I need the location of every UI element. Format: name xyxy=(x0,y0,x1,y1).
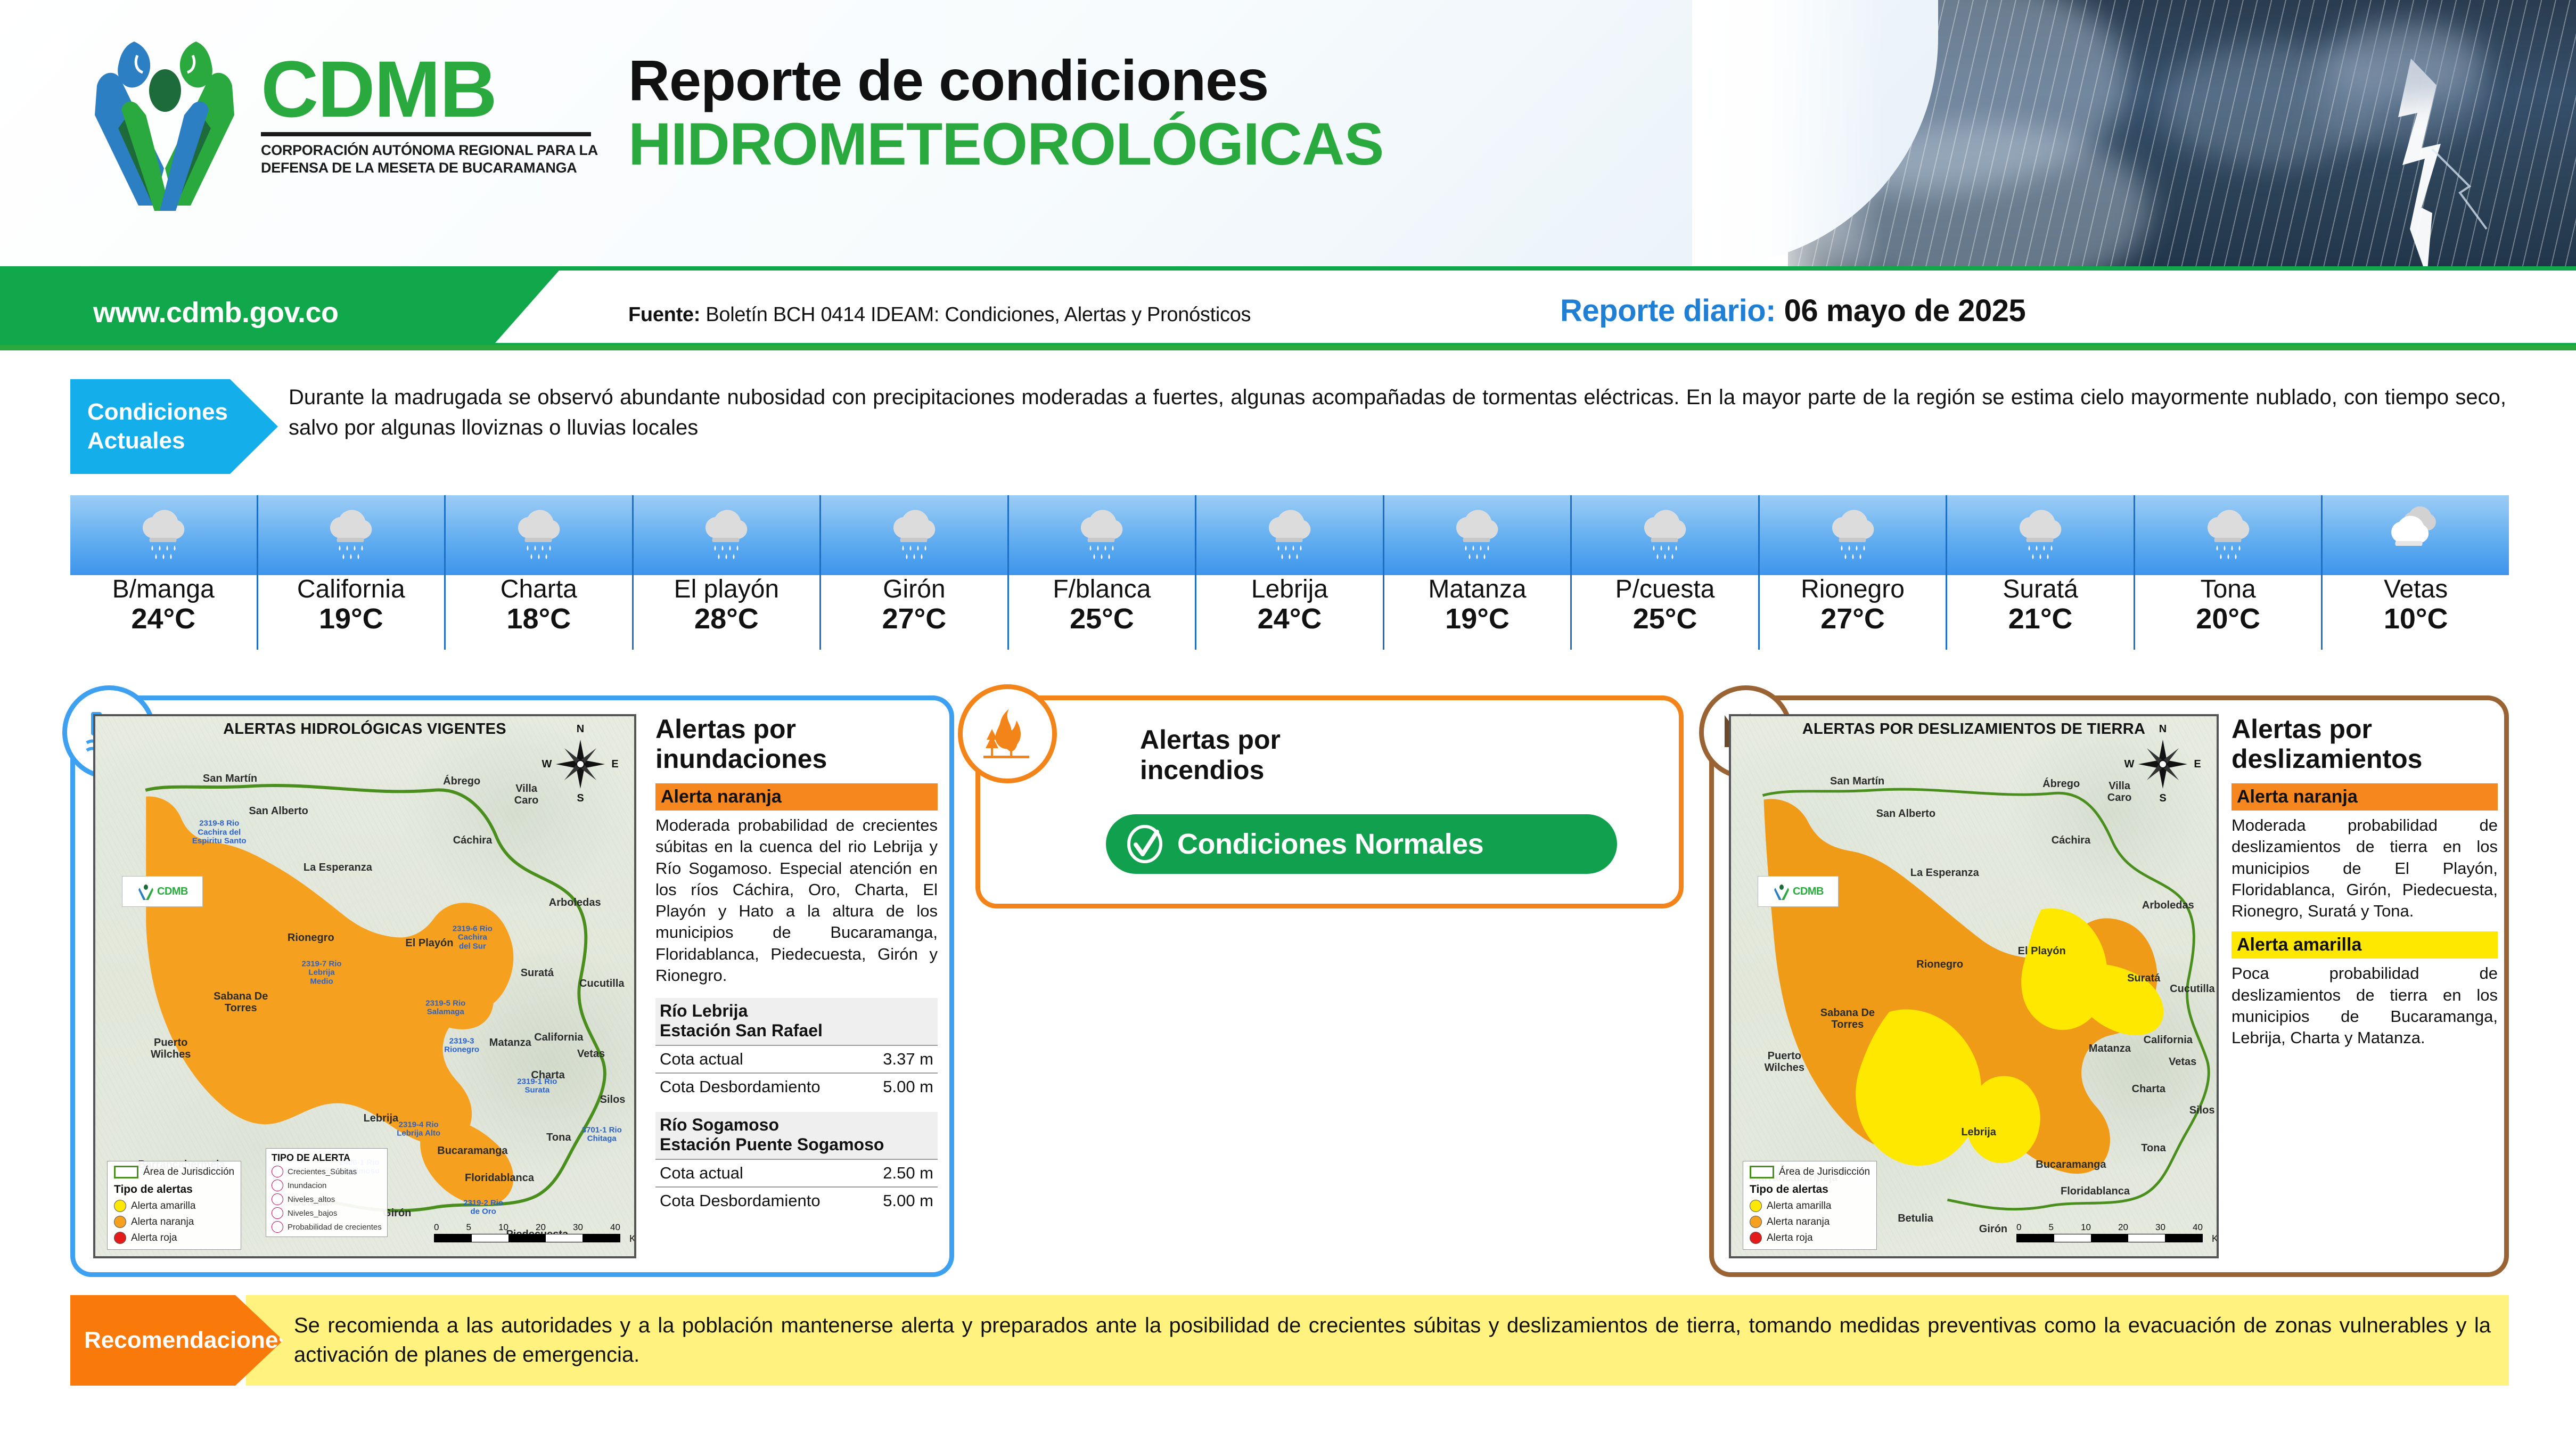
map-place-label: Ábrego xyxy=(2042,778,2080,790)
legend-jurisdiction-label: Área de Jurisdicción xyxy=(1779,1166,1870,1178)
temperature-cell-bmanga: B/manga24°C xyxy=(70,495,258,650)
river-gauge-sogamoso: Río Sogamoso Estación Puente Sogamoso Co… xyxy=(655,1112,938,1214)
gauge-station-name: Estación San Rafael xyxy=(660,1021,933,1041)
svg-text:W: W xyxy=(2124,758,2135,770)
map-place-label: California xyxy=(534,1032,583,1043)
current-conditions-tag: Condiciones Actuales xyxy=(70,379,278,474)
scale-tick: 30 xyxy=(2155,1222,2165,1233)
map-place-label: San Alberto xyxy=(1876,808,1936,820)
scale-tick: 10 xyxy=(498,1222,508,1233)
scale-tick: 5 xyxy=(466,1222,471,1233)
page-header: CDMB CORPORACIÓN AUTÓNOMA REGIONAL PARA … xyxy=(0,0,2576,266)
map-cdmb-logo: CDMB xyxy=(122,876,203,907)
gauge-station-name: Estación Puente Sogamoso xyxy=(660,1135,933,1155)
scale-tick: 30 xyxy=(573,1222,583,1233)
slide-map-title: ALERTAS POR DESLIZAMIENTOS DE TIERRA xyxy=(1731,721,2217,738)
slide-alert-level-badge-yellow: Alerta amarilla xyxy=(2232,931,2498,959)
map-place-label: Vetas xyxy=(577,1048,605,1060)
gauge-row-value: 3.37 m xyxy=(883,1050,933,1069)
current-conditions-text: Durante la madrugada se observó abundant… xyxy=(289,382,2506,443)
map-place-label: Charta xyxy=(2132,1083,2165,1095)
gauge-row-label: Cota actual xyxy=(660,1050,743,1069)
temperature-labels: Matanza19°C xyxy=(1384,575,1571,650)
temperature-city: P/cuesta xyxy=(1615,576,1715,603)
map-basin-label: 2319-2 Rio de Oro xyxy=(463,1199,503,1216)
forest-fire-icon xyxy=(958,684,1057,783)
temperature-city: Vetas xyxy=(2384,576,2448,603)
temperature-value: 24°C xyxy=(1258,604,1322,634)
logo-acronym: CDMB xyxy=(261,49,602,129)
temperature-value: 10°C xyxy=(2384,604,2448,634)
rain-cloud-icon xyxy=(70,495,257,575)
map-logo-text: CDMB xyxy=(157,886,188,898)
table-row: Cota Desbordamiento 5.00 m xyxy=(655,1186,938,1214)
temperature-cell-tona: Tona20°C xyxy=(2135,495,2323,650)
temperature-labels: Lebrija24°C xyxy=(1196,575,1383,650)
map-place-label: Bucaramanga xyxy=(437,1145,507,1157)
map-place-label: Cáchira xyxy=(2052,834,2090,846)
map-place-label: Villa Caro xyxy=(514,783,539,806)
rain-cloud-icon xyxy=(1572,495,1758,575)
report-date-label: Reporte diario: xyxy=(1560,293,1776,328)
table-row: Cota actual 3.37 m xyxy=(655,1045,938,1073)
cdmb-logo: CDMB CORPORACIÓN AUTÓNOMA REGIONAL PARA … xyxy=(75,35,607,227)
rain-cloud-icon xyxy=(1947,495,2134,575)
logo-subtitle-line2: DEFENSA DE LA MESETA DE BUCARAMANGA xyxy=(261,159,602,177)
map-place-label: La Esperanza xyxy=(303,862,372,873)
map-place-label: El Playón xyxy=(405,937,453,949)
scale-tick: 40 xyxy=(610,1222,620,1233)
flood-title-line1: Alertas por xyxy=(655,714,938,744)
scale-tick: 10 xyxy=(2081,1222,2091,1233)
temperature-labels: P/cuesta25°C xyxy=(1572,575,1758,650)
temperature-cell-matanza: Matanza19°C xyxy=(1384,495,1572,650)
temperature-labels: F/blanca25°C xyxy=(1009,575,1195,650)
map-place-label: Silos xyxy=(2189,1104,2215,1116)
temperature-strip: B/manga24°C California19°C Charta18°C xyxy=(70,495,2509,650)
temperature-cell-surat: Suratá21°C xyxy=(1947,495,2135,650)
conditions-tag-line2: Actuales xyxy=(87,427,278,455)
svg-text:E: E xyxy=(611,758,618,770)
map-place-label: Puerto Wilches xyxy=(1765,1050,1804,1074)
map-place-label: Ábrego xyxy=(443,775,480,787)
legend-jurisdiction-label: Área de Jurisdicción xyxy=(143,1166,234,1178)
temperature-labels: Tona20°C xyxy=(2135,575,2321,650)
slide-title-line1: Alertas por xyxy=(2232,714,2498,744)
green-bar-underline xyxy=(0,345,2576,350)
temperature-value: 28°C xyxy=(694,604,759,634)
temperature-labels: California19°C xyxy=(258,575,445,650)
source-credit: Fuente: Boletín BCH 0414 IDEAM: Condicio… xyxy=(628,304,1251,326)
slide-map-legend: Área de Jurisdicción Tipo de alertas Ale… xyxy=(1743,1161,1877,1250)
map-place-label: Sabana De Torres xyxy=(1820,1007,1875,1030)
report-date-line: Reporte diario: 06 mayo de 2025 xyxy=(1560,293,2025,329)
map-place-label: Suratá xyxy=(521,967,554,979)
slide-title-line2: deslizamientos xyxy=(2232,744,2498,774)
temperature-cell-lebrija: Lebrija24°C xyxy=(1196,495,1384,650)
map-place-label: Sabana De Torres xyxy=(214,990,268,1014)
temperature-cell-california: California19°C xyxy=(258,495,446,650)
temperature-labels: Rionegro27°C xyxy=(1760,575,1946,650)
rain-cloud-icon xyxy=(258,495,445,575)
map-place-label: Floridablanca xyxy=(465,1172,534,1184)
map-place-label: Floridablanca xyxy=(2061,1185,2130,1197)
temperature-labels: Charta18°C xyxy=(446,575,632,650)
map-place-label: Girón xyxy=(1979,1223,2007,1235)
map-place-label: Puerto Wilches xyxy=(151,1037,191,1060)
rain-cloud-icon xyxy=(2135,495,2321,575)
legend2-item: Niveles_bajos xyxy=(288,1209,337,1218)
temperature-city: California xyxy=(297,576,405,603)
rain-cloud-icon xyxy=(821,495,1007,575)
map-place-label: El Playón xyxy=(2018,945,2066,957)
hydrological-alerts-map[interactable]: ALERTAS HIDROLÓGICAS VIGENTES San Martín… xyxy=(93,714,636,1258)
river-gauge-lebrija: Río Lebrija Estación San Rafael Cota act… xyxy=(655,998,938,1100)
map-place-label: Suratá xyxy=(2127,972,2160,984)
legend2-item: Crecientes_Súbitas xyxy=(288,1167,357,1176)
slide-alert-level-badge-orange: Alerta naranja xyxy=(2232,783,2498,811)
temperature-value: 25°C xyxy=(1633,604,1697,634)
rain-cloud-icon xyxy=(1009,495,1195,575)
map-place-label: San Martín xyxy=(203,773,257,784)
map-basin-label: 2319-3 Rionegro xyxy=(444,1037,479,1054)
temperature-city: Suratá xyxy=(2003,576,2078,603)
temperature-value: 19°C xyxy=(319,604,383,634)
scale-tick: 0 xyxy=(2016,1222,2021,1233)
temperature-cell-rionegro: Rionegro27°C xyxy=(1760,495,1948,650)
legend-item-label: Alerta naranja xyxy=(1767,1216,1830,1228)
temperature-cell-fblanca: F/blanca25°C xyxy=(1009,495,1197,650)
slide-map-scalebar: 0 5 10 20 30 40 Km xyxy=(2016,1222,2203,1242)
scale-tick: 0 xyxy=(434,1222,439,1233)
map-place-label: Cucutilla xyxy=(579,978,624,989)
temperature-city: Lebrija xyxy=(1251,576,1328,603)
map-basin-label: 2319-1 Rio Surata xyxy=(517,1077,557,1095)
temperature-value: 21°C xyxy=(2008,604,2073,634)
temperature-city: Tona xyxy=(2201,576,2256,603)
scale-tick: 5 xyxy=(2049,1222,2054,1233)
landslide-panel-content: Alertas por deslizamientos Alerta naranj… xyxy=(2232,714,2498,1049)
temperature-city: Charta xyxy=(501,576,577,603)
map-basin-label: 2319-4 Rio Lebrija Alto xyxy=(397,1120,440,1138)
source-text: Boletín BCH 0414 IDEAM: Condiciones, Ale… xyxy=(705,304,1251,326)
page-title: Reporte de condiciones HIDROMETEOROLÓGIC… xyxy=(628,51,1383,175)
temperature-labels: Suratá21°C xyxy=(1947,575,2134,650)
legend-title: Tipo de alertas xyxy=(114,1183,234,1196)
recommendations-body: Se recomienda a las autoridades y a la p… xyxy=(246,1295,2509,1386)
conditions-tag-line1: Condiciones xyxy=(87,398,278,427)
legend-title: Tipo de alertas xyxy=(1750,1183,1870,1196)
map-place-label: Rionegro xyxy=(1916,959,1963,970)
report-date-value: 06 mayo de 2025 xyxy=(1784,293,2026,328)
slide-alert-description-orange: Moderada probabilidad de deslizamientos … xyxy=(2232,815,2498,922)
scale-unit: Km xyxy=(2212,1233,2219,1245)
map-place-label: Bucaramanga xyxy=(2036,1159,2106,1170)
legend2-title: TIPO DE ALERTA xyxy=(272,1152,382,1164)
svg-text:W: W xyxy=(542,758,552,770)
source-label: Fuente: xyxy=(628,304,700,326)
landslide-alerts-map[interactable]: ALERTAS POR DESLIZAMIENTOS DE TIERRA San… xyxy=(1729,714,2219,1258)
legend-item-label: Alerta naranja xyxy=(131,1216,194,1228)
gauge-row-label: Cota Desbordamiento xyxy=(660,1077,821,1096)
map-place-label: California xyxy=(2144,1034,2193,1046)
flood-map-legend: Área de Jurisdicción Tipo de alertas Ale… xyxy=(107,1161,241,1250)
temperature-labels: El playón28°C xyxy=(634,575,820,650)
table-row: Cota actual 2.50 m xyxy=(655,1159,938,1186)
temperature-value: 24°C xyxy=(131,604,195,634)
map-place-label: Tona xyxy=(546,1132,571,1143)
flood-alert-level-badge: Alerta naranja xyxy=(655,783,938,811)
check-circle-icon xyxy=(1124,823,1166,865)
map-place-label: Arboledas xyxy=(2142,899,2194,911)
website-url[interactable]: www.cdmb.gov.co xyxy=(93,296,339,329)
temperature-cell-charta: Charta18°C xyxy=(446,495,634,650)
legend-item-label: Alerta amarilla xyxy=(1767,1200,1831,1212)
flood-title-line2: inundaciones xyxy=(655,744,938,774)
fire-panel-title: Alertas por incendios xyxy=(1140,725,1281,785)
temperature-city: F/blanca xyxy=(1053,576,1151,603)
map-logo-text: CDMB xyxy=(1793,886,1824,898)
current-conditions-row: Condiciones Actuales Durante la madrugad… xyxy=(70,379,2509,474)
map-basin-label: 2319-6 Rio Cachira del Sur xyxy=(453,924,493,951)
gauge-row-value: 2.50 m xyxy=(883,1164,933,1183)
header-gradient-fade xyxy=(1692,0,1884,266)
temperature-cell-vetas: Vetas10°C xyxy=(2323,495,2509,650)
legend2-item: Inundacion xyxy=(288,1181,326,1190)
map-place-label: Betulia xyxy=(1898,1213,1933,1224)
map-place-label: Tona xyxy=(2141,1142,2165,1154)
gauge-row-label: Cota actual xyxy=(660,1164,743,1183)
temperature-cell-pcuesta: P/cuesta25°C xyxy=(1572,495,1760,650)
svg-text:S: S xyxy=(2159,792,2166,804)
cloudy-icon xyxy=(2323,495,2509,575)
scale-tick: 20 xyxy=(536,1222,546,1233)
flood-map-scalebar: 0 5 10 20 30 40 Km xyxy=(434,1222,620,1242)
flood-map-title: ALERTAS HIDROLÓGICAS VIGENTES xyxy=(95,721,634,738)
title-line-1: Reporte de condiciones xyxy=(628,51,1383,110)
legend2-item: Niveles_altos xyxy=(288,1195,335,1204)
temperature-labels: B/manga24°C xyxy=(70,575,257,650)
scale-tick: 40 xyxy=(2193,1222,2203,1233)
slide-alert-description-yellow: Poca probabilidad de deslizamientos de t… xyxy=(2232,963,2498,1049)
map-place-label: San Alberto xyxy=(249,805,308,817)
temperature-value: 18°C xyxy=(507,604,571,634)
recommendations-text: Se recomienda a las autoridades y a la p… xyxy=(294,1311,2491,1370)
landslide-alerts-panel: ALERTAS POR DESLIZAMIENTOS DE TIERRA San… xyxy=(1709,695,2509,1277)
map-place-label: San Martín xyxy=(1830,775,1884,787)
svg-text:S: S xyxy=(577,792,584,804)
temperature-labels: Vetas10°C xyxy=(2323,575,2509,650)
legend-item-label: Alerta amarilla xyxy=(131,1200,195,1212)
map-basin-label: 2319-8 Rio Cachira del Espiritu Santo xyxy=(192,819,247,846)
fire-title-line1: Alertas por xyxy=(1140,725,1281,755)
temperature-labels: Girón27°C xyxy=(821,575,1007,650)
legend-item-label: Alerta roja xyxy=(131,1232,177,1244)
map-place-label: Silos xyxy=(600,1094,626,1106)
map-basin-label: 2319-7 Rio Lebrija Medio xyxy=(302,960,342,986)
fire-alerts-panel: Alertas por incendios Condiciones Normal… xyxy=(975,695,1684,908)
rain-cloud-icon xyxy=(446,495,632,575)
temperature-value: 19°C xyxy=(1445,604,1509,634)
rain-cloud-icon xyxy=(1196,495,1383,575)
scale-tick: 20 xyxy=(2118,1222,2128,1233)
temperature-city: Matanza xyxy=(1428,576,1526,603)
temperature-city: Girón xyxy=(883,576,945,603)
title-line-2: HIDROMETEOROLÓGICAS xyxy=(628,114,1383,175)
map-place-label: Arboledas xyxy=(549,897,601,908)
gauge-row-value: 5.00 m xyxy=(883,1191,933,1210)
map-place-label: Vetas xyxy=(2169,1056,2196,1068)
temperature-value: 27°C xyxy=(882,604,947,634)
fire-title-line2: incendios xyxy=(1140,755,1281,785)
map-place-label: Matanza xyxy=(2089,1043,2131,1054)
flood-alerts-panel: ALERTAS HIDROLÓGICAS VIGENTES San Martín… xyxy=(70,695,954,1277)
temperature-city: B/manga xyxy=(112,576,215,603)
recommendations-tag-label: Recomendaciones: xyxy=(84,1327,299,1354)
temperature-cell-girn: Girón27°C xyxy=(821,495,1009,650)
rain-cloud-icon xyxy=(1760,495,1946,575)
legend-item-label: Alerta roja xyxy=(1767,1232,1813,1244)
map-place-label: Cucutilla xyxy=(2170,983,2214,995)
svg-text:E: E xyxy=(2194,758,2201,770)
legend2-item: Probabilidad de crecientes xyxy=(288,1223,382,1232)
gauge-row-label: Cota Desbordamiento xyxy=(660,1191,821,1210)
gauge-river-name: Río Sogamoso xyxy=(660,1115,933,1135)
map-place-label: Cáchira xyxy=(453,834,492,846)
map-place-label: La Esperanza xyxy=(1910,867,1979,879)
cdmb-logo-mark-icon xyxy=(75,35,256,211)
gauge-row-value: 5.00 m xyxy=(883,1077,933,1096)
temperature-city: Rionegro xyxy=(1801,576,1905,603)
fire-status-text: Condiciones Normales xyxy=(1177,828,1483,861)
gauge-river-name: Río Lebrija xyxy=(660,1001,933,1021)
flood-panel-content: Alertas por inundaciones Alerta naranja … xyxy=(655,714,938,1214)
rain-cloud-icon xyxy=(1384,495,1571,575)
temperature-cell-elplayn: El playón28°C xyxy=(634,495,822,650)
map-place-label: Rionegro xyxy=(288,932,334,944)
map-place-label: Lebrija xyxy=(1961,1126,1996,1138)
logo-subtitle-line1: CORPORACIÓN AUTÓNOMA REGIONAL PARA LA xyxy=(261,142,602,159)
map-cdmb-logo: CDMB xyxy=(1758,876,1839,907)
rain-cloud-icon xyxy=(634,495,820,575)
map-basin-label: 2319-5 Rio Salamaga xyxy=(425,999,465,1017)
temperature-value: 25°C xyxy=(1070,604,1134,634)
temperature-city: El playón xyxy=(674,576,779,603)
flood-alert-description: Moderada probabilidad de crecientes súbi… xyxy=(655,815,938,986)
temperature-value: 27°C xyxy=(1820,604,1885,634)
recommendations-row: Se recomienda a las autoridades y a la p… xyxy=(70,1295,2509,1386)
fire-status-badge: Condiciones Normales xyxy=(1106,814,1617,874)
temperature-value: 20°C xyxy=(2196,604,2260,634)
table-row: Cota Desbordamiento 5.00 m xyxy=(655,1073,938,1100)
alerts-panels-row: ALERTAS HIDROLÓGICAS VIGENTES San Martín… xyxy=(70,687,2509,1278)
map-basin-label: 3701-1 Rio Chitaga xyxy=(582,1126,622,1143)
scale-unit: Km xyxy=(629,1233,636,1245)
map-place-label: Lebrija xyxy=(364,1112,399,1124)
map-place-label: Matanza xyxy=(489,1037,531,1049)
flood-map-alert-type-legend: TIPO DE ALERTA Crecientes_Súbitas Inunda… xyxy=(266,1148,388,1237)
